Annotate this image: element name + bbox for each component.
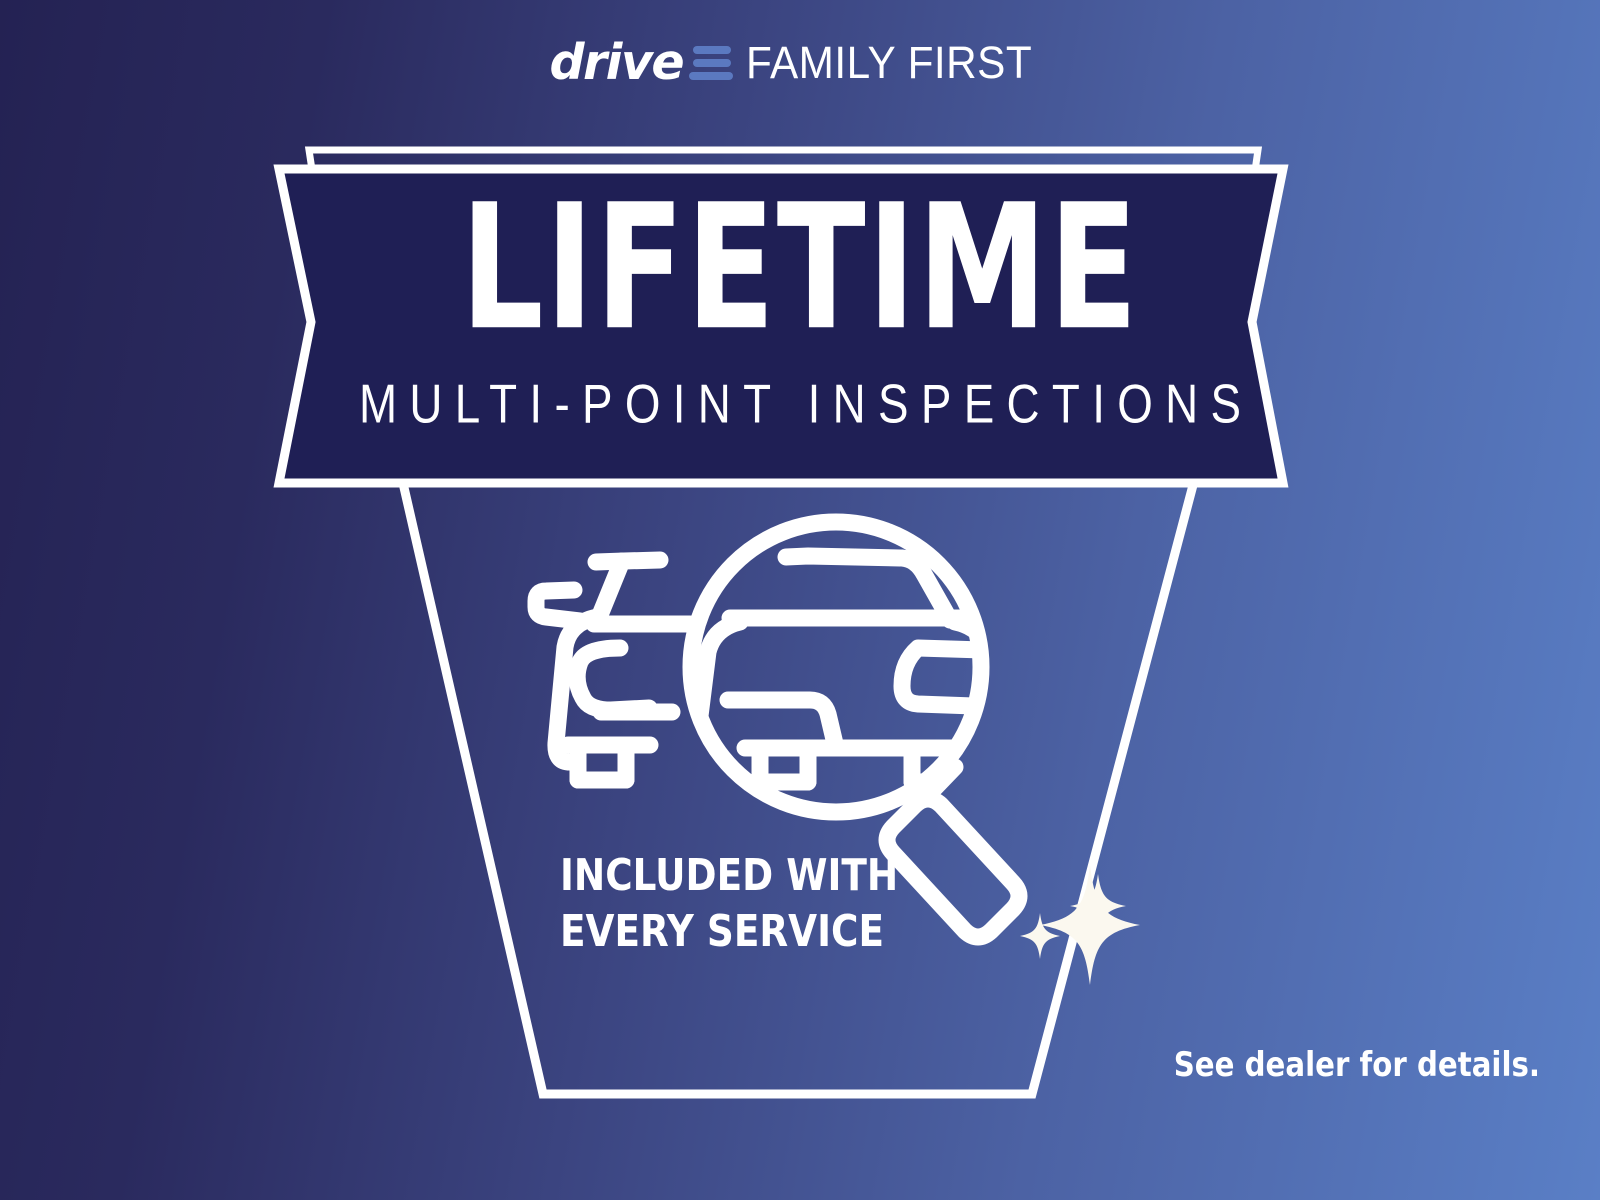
- badge-caption-line-1: INCLUDED WITH: [560, 848, 898, 904]
- badge-caption: INCLUDED WITH EVERY SERVICE: [560, 848, 898, 961]
- magnifier-lens-circle: [691, 522, 981, 812]
- banner-subtitle: MULTI-POINT INSPECTIONS: [96, 377, 1504, 432]
- badge-caption-line-2: EVERY SERVICE: [560, 904, 898, 960]
- background-car-icon: [536, 560, 690, 780]
- banner-title: LIFETIME: [160, 182, 1440, 355]
- promo-graphic: drive FAMILY FIRST: [0, 0, 1600, 1200]
- sparkle-stars-icon: [1020, 865, 1140, 985]
- disclaimer-text: See dealer for details.: [216, 1048, 1540, 1082]
